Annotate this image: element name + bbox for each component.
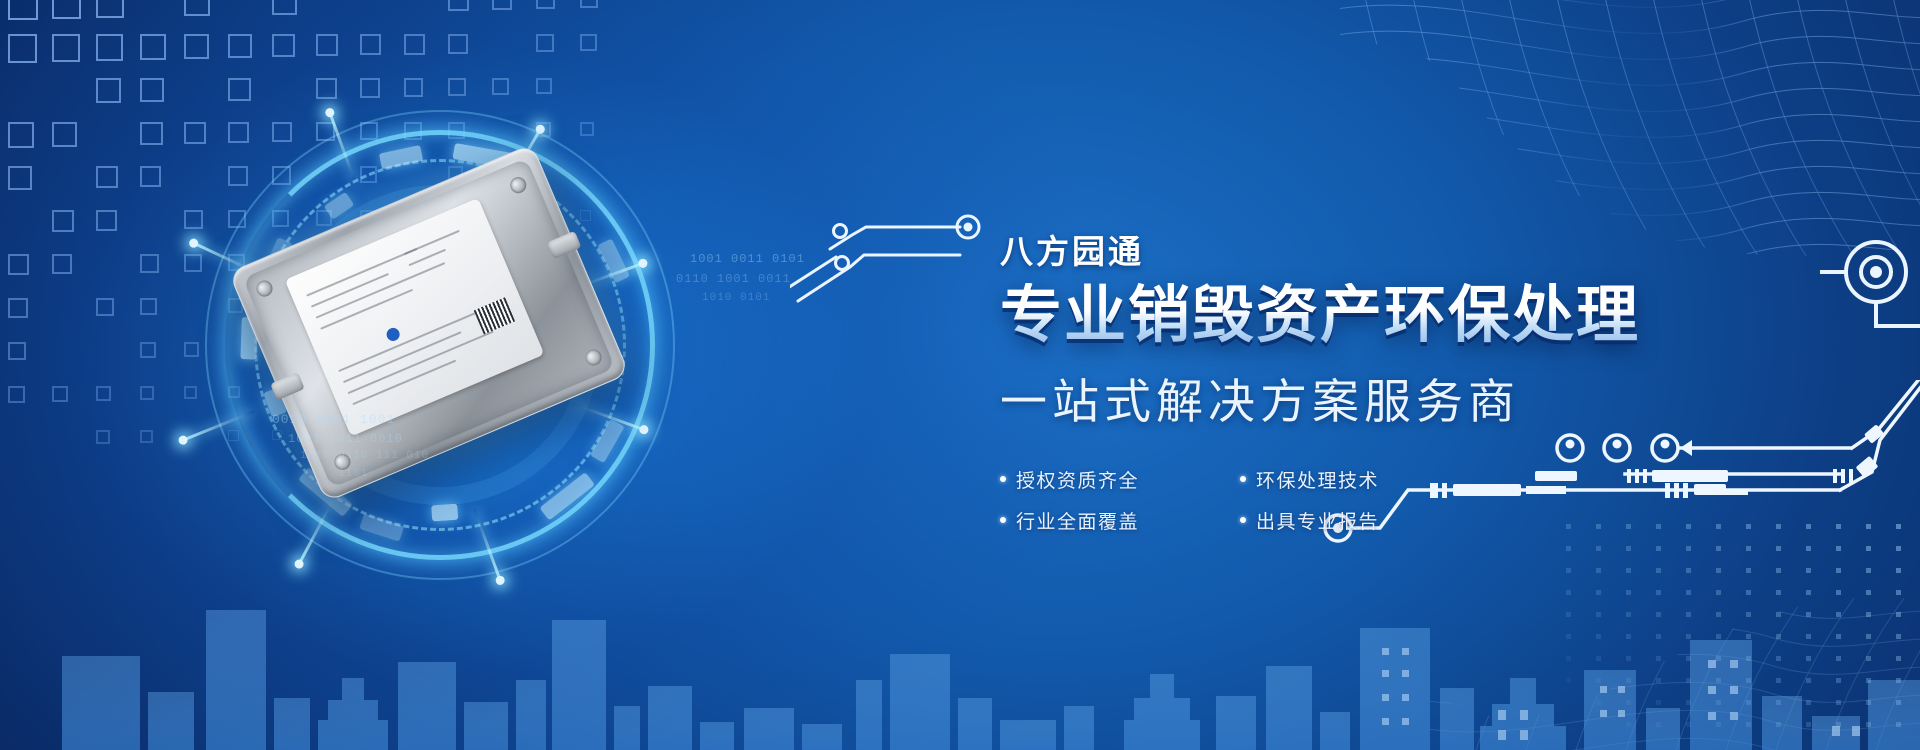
grid-dot [1806,568,1811,573]
grid-dot [1746,546,1751,551]
grid-dot [1626,722,1631,727]
grid-dot [1686,678,1691,683]
grid-dot [1866,612,1871,617]
grid-dot [1686,700,1691,705]
grid-dot [1596,656,1601,661]
grid-dot [1656,722,1661,727]
grid-dot [1626,656,1631,661]
pixel-square [52,0,81,19]
pixel-square [8,254,29,275]
pixel-square [140,342,156,358]
feature-item: 授权资质齐全 [1000,466,1240,493]
grid-dot [1566,656,1571,661]
pixel-square [404,78,423,97]
grid-dot [1596,590,1601,595]
grid-dot [1836,568,1841,573]
grid-dot [1626,612,1631,617]
grid-dot [1836,678,1841,683]
pixel-square [448,0,469,11]
grid-dot [1656,568,1661,573]
grid-dot [1896,612,1901,617]
pixel-square [96,0,124,18]
brand-name: 八方园通 [1000,225,1760,273]
pixel-square [96,166,118,188]
grid-dot [1896,634,1901,639]
grid-dot [1776,678,1781,683]
pixel-square [492,78,509,95]
grid-dot [1656,678,1661,683]
bullet-dot-icon [1240,476,1246,482]
hdd-barcode [474,297,515,334]
pixel-square [96,386,111,401]
grid-dot [1716,634,1721,639]
grid-dot [1716,678,1721,683]
grid-dot [1896,524,1901,529]
pixel-square [96,210,117,231]
grid-dot [1716,590,1721,595]
grid-dot [1626,590,1631,595]
pixel-square [228,34,252,58]
grid-dot [1566,568,1571,573]
grid-dot [1776,700,1781,705]
feature-item: 出具专业报告 [1240,507,1480,534]
pixel-square [140,78,164,102]
pixel-square [272,34,295,57]
feature-label: 环保处理技术 [1256,466,1379,493]
grid-dot [1896,590,1901,595]
grid-dot [1896,700,1901,705]
grid-dot [1596,678,1601,683]
grid-dot [1626,700,1631,705]
pixel-square [96,78,121,103]
pixel-square [52,386,68,402]
pixel-square [184,34,209,59]
pixel-square [52,122,77,147]
grid-dot [1566,546,1571,551]
grid-dot [1656,634,1661,639]
grid-dot [1836,524,1841,529]
grid-dot [1686,568,1691,573]
grid-dot [1596,634,1601,639]
grid-dot [1746,678,1751,683]
grid-dot [1836,612,1841,617]
binary-text: 1001 0011 0101 [690,252,805,266]
pixel-square [404,34,425,55]
pixel-square [8,34,37,63]
circuit-connector-upper [790,205,1020,305]
bullet-dot-icon [1000,517,1006,523]
pixel-square [448,78,466,96]
grid-dot [1656,612,1661,617]
grid-dot [1566,590,1571,595]
grid-dot [1776,590,1781,595]
grid-dot [1896,722,1901,727]
grid-dot [1686,634,1691,639]
grid-dot [1806,524,1811,529]
grid-dot [1836,656,1841,661]
grid-dot [1686,590,1691,595]
grid-dot [1866,678,1871,683]
grid-dot [1836,546,1841,551]
hdd-label-blue-dot [385,326,402,343]
pixel-square [52,34,80,62]
pixel-square [184,0,210,16]
grid-dot [1866,590,1871,595]
grid-dot [1866,546,1871,551]
grid-dot [1716,700,1721,705]
grid-dot [1716,568,1721,573]
pixel-square [536,78,552,94]
grid-dot [1776,722,1781,727]
grid-dot [1596,568,1601,573]
grid-dot [1776,612,1781,617]
bullet-dot-icon [1240,517,1246,523]
pixel-square [8,166,32,190]
pixel-square [8,342,26,360]
pixel-square [8,298,28,318]
grid-dot [1656,546,1661,551]
pixel-square [140,122,163,145]
hero-copy-block: 八方园通 专业销毁资产环保处理 一站式解决方案服务商 授权资质齐全环保处理技术行… [1000,225,1760,534]
grid-dot [1566,612,1571,617]
grid-dot [1596,546,1601,551]
grid-dot [1746,612,1751,617]
pixel-square [580,0,598,8]
feature-item: 环保处理技术 [1240,466,1480,493]
grid-dot [1866,700,1871,705]
pixel-square [8,122,34,148]
grid-dot [1776,656,1781,661]
pixel-square [140,34,166,60]
grid-dot [1806,612,1811,617]
pixel-square [536,0,555,9]
pixel-square [140,298,157,315]
pixel-square [536,34,554,52]
grid-dot [1596,700,1601,705]
pixel-square [96,298,114,316]
grid-dot [1686,722,1691,727]
grid-dot [1716,722,1721,727]
grid-dot [1896,568,1901,573]
circuit-node-right-edge [1820,230,1920,350]
grid-dot [1896,656,1901,661]
grid-dot [1686,612,1691,617]
grid-dot [1806,546,1811,551]
grid-dot [1746,634,1751,639]
grid-dot [1836,722,1841,727]
grid-dot [1836,634,1841,639]
pixel-square [492,0,512,10]
pixel-square [272,0,297,15]
pixel-square [96,34,123,61]
grid-dot [1746,700,1751,705]
grid-dot [1746,590,1751,595]
page-title: 专业销毁资产环保处理 [1000,283,1760,349]
grid-dot [1566,678,1571,683]
pixel-square [316,34,338,56]
grid-dot [1716,656,1721,661]
grid-dot [1746,722,1751,727]
grid-dot [1716,546,1721,551]
grid-dot [1626,546,1631,551]
binary-text: 1010 0101 [702,292,770,304]
grid-dot [1626,568,1631,573]
grid-dot [1566,634,1571,639]
grid-dot [1656,590,1661,595]
pixel-square [140,254,159,273]
grid-dot [1776,568,1781,573]
pixel-square [8,0,38,20]
pixel-square [52,254,72,274]
feature-list: 授权资质齐全环保处理技术行业全面覆盖出具专业报告 [1000,466,1480,534]
dot-grid-bottom-right [1560,520,1920,750]
grid-dot [1806,678,1811,683]
grid-dot [1866,568,1871,573]
feature-item: 行业全面覆盖 [1000,507,1240,534]
hard-drive-graphic [180,110,700,580]
pixel-square [140,166,161,187]
pixel-square [360,34,381,55]
page-subtitle: 一站式解决方案服务商 [1000,363,1760,432]
grid-dot [1836,700,1841,705]
grid-dot [1896,546,1901,551]
grid-dot [1776,546,1781,551]
feature-label: 行业全面覆盖 [1016,507,1139,534]
feature-label: 授权资质齐全 [1016,466,1139,493]
pixel-square [140,430,153,443]
grid-dot [1656,700,1661,705]
grid-dot [1866,634,1871,639]
pixel-square [140,386,154,400]
grid-dot [1626,634,1631,639]
grid-dot [1836,590,1841,595]
pixel-square [96,430,110,444]
pixel-square [360,78,380,98]
bullet-dot-icon [1000,476,1006,482]
grid-dot [1746,656,1751,661]
pixel-square [228,78,251,101]
pixel-square [316,78,337,99]
grid-dot [1686,656,1691,661]
grid-dot [1866,656,1871,661]
grid-dot [1896,678,1901,683]
pixel-square [448,34,468,54]
grid-dot [1656,656,1661,661]
grid-dot [1776,524,1781,529]
grid-dot [1686,546,1691,551]
grid-dot [1596,612,1601,617]
hero-banner: 1001 0011 01010110 1001 00111010 0101001… [0,0,1920,750]
pixel-square [52,210,74,232]
grid-dot [1866,722,1871,727]
grid-dot [1866,524,1871,529]
grid-dot [1746,568,1751,573]
feature-label: 出具专业报告 [1256,507,1379,534]
grid-dot [1806,634,1811,639]
grid-dot [1806,590,1811,595]
grid-dot [1806,700,1811,705]
grid-dot [1626,678,1631,683]
grid-dot [1806,656,1811,661]
grid-dot [1806,722,1811,727]
pixel-square [8,386,25,403]
grid-dot [1716,612,1721,617]
ring-segment [431,504,458,522]
pixel-square [580,34,597,51]
grid-dot [1776,634,1781,639]
mesh-wave-bottom-right [1430,500,1920,750]
